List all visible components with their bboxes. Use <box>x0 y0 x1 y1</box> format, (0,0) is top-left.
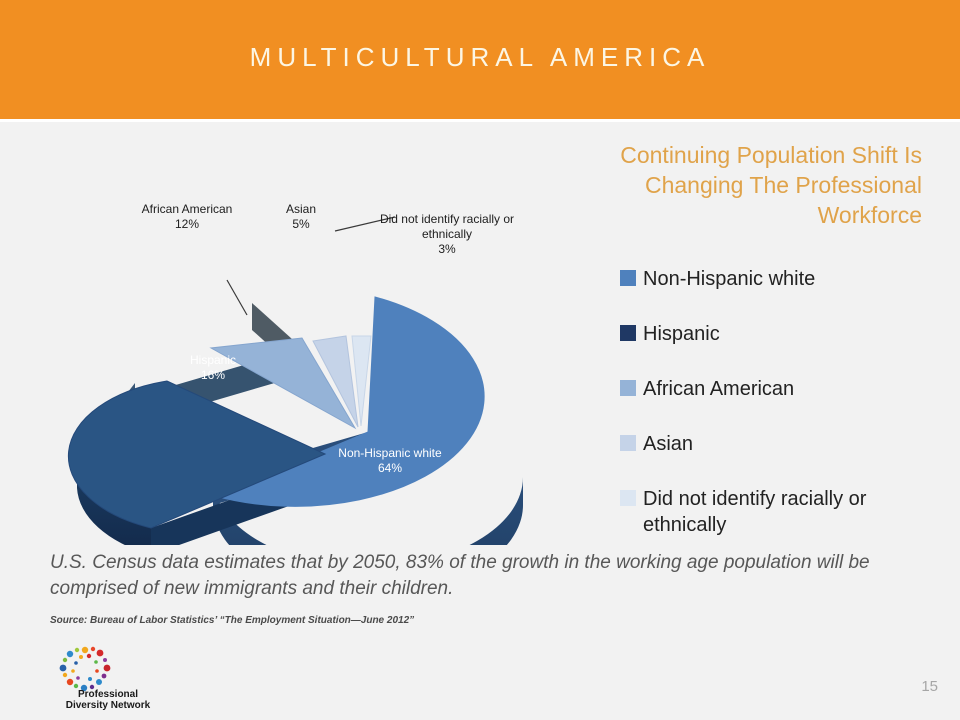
legend-label: Asian <box>643 431 693 457</box>
pie-label-african-american-value: 12% <box>127 217 247 232</box>
chart-heading: Continuing Population Shift Is Changing … <box>522 140 922 230</box>
chart-heading-line-3: Workforce <box>522 200 922 230</box>
pie-label-did-not-identify-value: 3% <box>373 242 521 257</box>
logo-text: Professional Diversity Network <box>48 689 168 711</box>
chart-legend: Non-Hispanic white Hispanic African Amer… <box>620 266 950 567</box>
legend-item-non-hispanic-white[interactable]: Non-Hispanic white <box>620 266 950 292</box>
pie-label-african-american-name: African American <box>127 202 247 217</box>
pie-label-did-not-identify-line2: ethnically <box>373 227 521 242</box>
pie-label-african-american: African American 12% <box>127 202 247 232</box>
logo: Professional Diversity Network <box>48 645 168 713</box>
page-number: 15 <box>921 678 938 695</box>
pie-label-did-not-identify: Did not identify racially or ethnically … <box>373 212 521 257</box>
leader-line-african-american <box>227 280 247 315</box>
logo-text-line-1: Professional <box>48 689 168 700</box>
chart-heading-line-1: Continuing Population Shift Is <box>522 140 922 170</box>
legend-item-hispanic[interactable]: Hispanic <box>620 321 950 347</box>
legend-label: Hispanic <box>643 321 720 347</box>
pie-label-hispanic-name: Hispanic <box>163 353 263 368</box>
legend-label: Did not identify racially or ethnically <box>643 486 943 538</box>
legend-swatch-icon <box>620 270 636 286</box>
slide-canvas: MULTICULTURAL AMERICA Continuing Populat… <box>0 0 960 720</box>
pie-label-hispanic: Hispanic 16% <box>163 353 263 383</box>
legend-item-african-american[interactable]: African American <box>620 376 950 402</box>
logo-text-line-2: Diversity Network <box>48 700 168 711</box>
legend-item-asian[interactable]: Asian <box>620 431 950 457</box>
pie-label-non-hispanic-white: Non-Hispanic white 64% <box>320 446 460 476</box>
pie-label-asian-value: 5% <box>266 217 336 232</box>
pie-label-asian: Asian 5% <box>266 202 336 232</box>
pie-label-asian-name: Asian <box>266 202 336 217</box>
legend-swatch-icon <box>620 380 636 396</box>
pie-label-non-hispanic-white-name: Non-Hispanic white <box>320 446 460 461</box>
pie-label-non-hispanic-white-value: 64% <box>320 461 460 476</box>
page-title: MULTICULTURAL AMERICA <box>0 42 960 73</box>
legend-swatch-icon <box>620 325 636 341</box>
header-underline <box>0 119 960 122</box>
legend-label: Non-Hispanic white <box>643 266 815 292</box>
legend-swatch-icon <box>620 490 636 506</box>
pie-label-did-not-identify-line1: Did not identify racially or <box>373 212 521 227</box>
legend-label: African American <box>643 376 794 402</box>
chart-heading-line-2: Changing The Professional <box>522 170 922 200</box>
caption-text: U.S. Census data estimates that by 2050,… <box>50 550 920 602</box>
dot-ring-icon <box>56 645 114 693</box>
source-text: Source: Bureau of Labor Statistics’ “The… <box>50 615 650 626</box>
legend-swatch-icon <box>620 435 636 451</box>
pie-chart: Hispanic 16% Non-Hispanic white 64% Afri… <box>55 195 575 545</box>
legend-item-did-not-identify[interactable]: Did not identify racially or ethnically <box>620 486 950 538</box>
pie-label-hispanic-value: 16% <box>163 368 263 383</box>
